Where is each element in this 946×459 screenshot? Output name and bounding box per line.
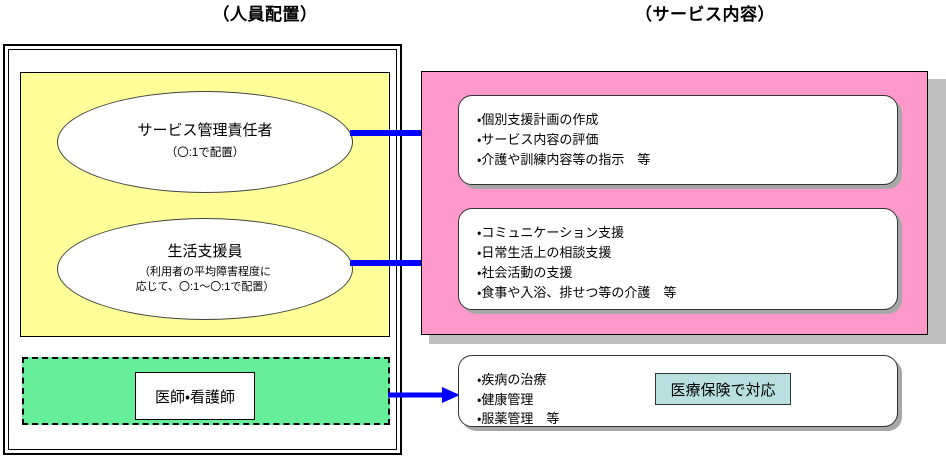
role-note-life-support-worker: （利用者の平均障害程度に 応じて、〇:1～〇:1で配置） — [136, 265, 275, 295]
staffing-column-title: （人員配置） — [130, 6, 400, 23]
arrow-medical-staff-to-services — [388, 384, 460, 406]
role-ellipse-service-manager: サービス管理責任者 （〇:1で配置） — [57, 91, 353, 193]
role-note-service-manager: （〇:1で配置） — [166, 146, 245, 162]
service-card-1-items: ・個別支援計画の作成 ・サービス内容の評価 ・介護や訓練内容等の指示 等 — [477, 110, 897, 170]
role-ellipse-life-support-worker: 生活支援員 （利用者の平均障害程度に 応じて、〇:1～〇:1で配置） — [57, 218, 353, 320]
service-card-2-items: ・コミュニケーション支援 ・日常生活上の相談支援 ・社会活動の支援 ・食事や入浴… — [477, 223, 897, 304]
service-card-support-duties: ・コミュニケーション支援 ・日常生活上の相談支援 ・社会活動の支援 ・食事や入浴… — [458, 208, 898, 310]
diagram-canvas: （人員配置） （サービス内容） サービス管理責任者 （〇:1で配置） 生活支援員… — [0, 0, 946, 459]
service-card-manager-duties: ・個別支援計画の作成 ・サービス内容の評価 ・介護や訓練内容等の指示 等 — [458, 95, 898, 185]
medical-insurance-badge: 医療保険で対応 — [655, 373, 791, 405]
role-title-life-support-worker: 生活支援員 — [167, 243, 242, 262]
role-title-service-manager: サービス管理責任者 — [137, 122, 272, 141]
services-column-title: （サービス内容） — [555, 6, 855, 23]
medical-staff-label-box: 医師・看護師 — [135, 372, 255, 420]
